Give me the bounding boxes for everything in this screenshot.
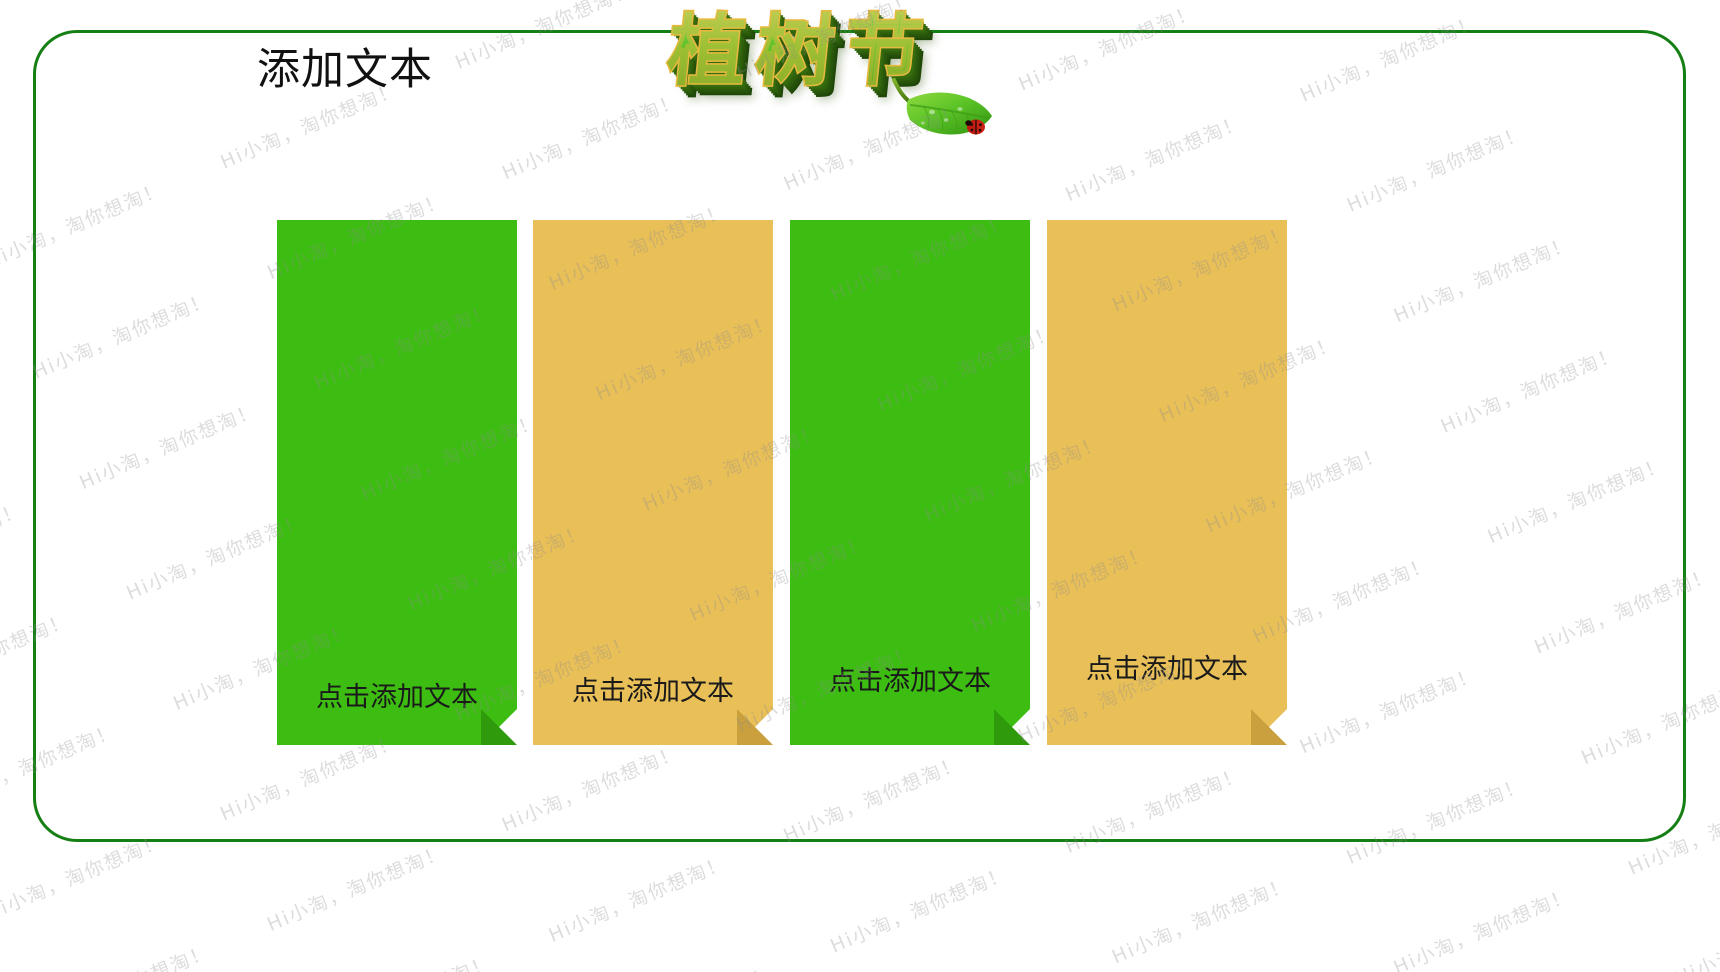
ladybug-icon <box>965 120 985 135</box>
text-card-1-body[interactable] <box>277 220 517 745</box>
leaf-ladybug-svg <box>888 78 998 150</box>
text-card-1-label[interactable]: 点击添加文本 <box>277 680 517 714</box>
watermark-text: Hi小淘，淘你想淘！ <box>1 875 283 972</box>
watermark-text: Hi小淘，淘你想淘！ <box>283 885 565 972</box>
watermark-text: Hi小淘，淘你想淘！ <box>0 212 1 422</box>
text-card-4[interactable]: 点击添加文本 <box>1047 220 1287 745</box>
watermark-text: Hi小淘，淘你想淘！ <box>564 896 846 972</box>
watermark-text: Hi小淘，淘你想淘！ <box>1127 918 1409 972</box>
text-card-1[interactable]: 点击添加文本 <box>277 220 517 745</box>
text-card-2[interactable]: 点击添加文本 <box>533 220 773 745</box>
watermark-text: Hi小淘，淘你想淘！ <box>1644 829 1720 972</box>
text-card-2-body[interactable] <box>533 220 773 745</box>
leaf-stem <box>894 80 910 102</box>
text-card-2-label[interactable]: 点击添加文本 <box>533 674 773 708</box>
watermark-text: Hi小淘，淘你想淘！ <box>846 907 1128 972</box>
text-card-3-label[interactable]: 点击添加文本 <box>790 664 1030 698</box>
page-title[interactable]: 添加文本 <box>251 44 439 96</box>
text-card-4-label[interactable]: 点击添加文本 <box>1047 652 1287 686</box>
watermark-text: Hi小淘，淘你想淘！ <box>1409 929 1691 972</box>
text-card-3[interactable]: 点击添加文本 <box>790 220 1030 745</box>
leaf-icon <box>888 78 998 150</box>
slide-canvas: 添加文本 植树节 植树节 植树节 <box>0 0 1720 972</box>
